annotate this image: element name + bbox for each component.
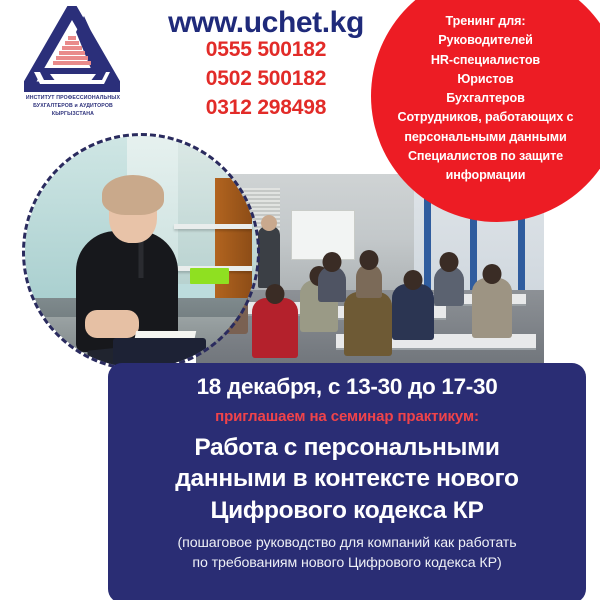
seminar-title-line-1: Работа с персональными (108, 432, 586, 463)
classroom-attendee (434, 266, 464, 306)
triangle-pyramid-logo-icon (24, 6, 120, 92)
seminar-banner: 18 декабря, с 13-30 до 17-30 приглашаем … (108, 363, 586, 600)
classroom-attendee (392, 284, 434, 340)
presenter-portrait (22, 133, 260, 371)
seminar-invite: приглашаем на семинар практикум: (108, 408, 586, 425)
seminar-title-line-2: данными в контексте нового (108, 463, 586, 494)
website-url[interactable]: www.uchet.kg (150, 6, 382, 40)
audience-item: персональными данными (371, 128, 600, 147)
audience-item: Специалистов по защите (371, 147, 600, 166)
audience-item: Руководителей (371, 31, 600, 50)
seminar-title-line-3: Цифрового кодекса КР (108, 495, 586, 526)
organization-logo: ИНСТИТУТ ПРОФЕССИОНАЛЬНЫХ БУХГАЛТЕРОВ и … (8, 4, 138, 124)
seminar-note-line-1: (пошаговое руководство для компаний как … (108, 534, 586, 554)
classroom-attendee (356, 264, 382, 298)
phone-number-1[interactable]: 0555 500182 (150, 36, 382, 65)
audience-item: Бухгалтеров (371, 89, 600, 108)
seminar-date: 18 декабря, с 13-30 до 17-30 (108, 374, 586, 400)
phone-number-2[interactable]: 0502 500182 (150, 65, 382, 94)
seminar-note-line-2: по требованиям нового Цифрового кодекса … (108, 554, 586, 574)
classroom-speaker (258, 226, 280, 288)
phone-list: 0555 500182 0502 500182 0312 298498 (150, 36, 382, 122)
seminar-title: Работа с персональными данными в контекс… (108, 432, 586, 526)
logo-caption-line-2: БУХГАЛТЕРОВ и АУДИТОРОВ (8, 102, 138, 110)
logo-caption-line-1: ИНСТИТУТ ПРОФЕССИОНАЛЬНЫХ (8, 94, 138, 102)
audience-item: HR-специалистов (371, 51, 600, 70)
classroom-whiteboard (291, 210, 355, 260)
audience-item: информации (371, 166, 600, 185)
audience-heading: Тренинг для: (371, 12, 600, 31)
classroom-attendee (344, 292, 392, 356)
audience-text: Тренинг для: Руководителей HR-специалист… (371, 12, 600, 185)
phone-number-3[interactable]: 0312 298498 (150, 94, 382, 123)
promo-poster: ИНСТИТУТ ПРОФЕССИОНАЛЬНЫХ БУХГАЛТЕРОВ и … (0, 0, 600, 600)
logo-caption: ИНСТИТУТ ПРОФЕССИОНАЛЬНЫХ БУХГАЛТЕРОВ и … (8, 94, 138, 118)
portrait-dashed-ring (22, 133, 260, 371)
audience-item: Юристов (371, 70, 600, 89)
audience-item: Сотрудников, работающих с (371, 108, 600, 127)
logo-caption-line-3: КЫРГЫЗСТАНА (8, 110, 138, 118)
seminar-note: (пошаговое руководство для компаний как … (108, 534, 586, 573)
classroom-attendee (318, 266, 346, 302)
classroom-attendee (472, 278, 512, 338)
